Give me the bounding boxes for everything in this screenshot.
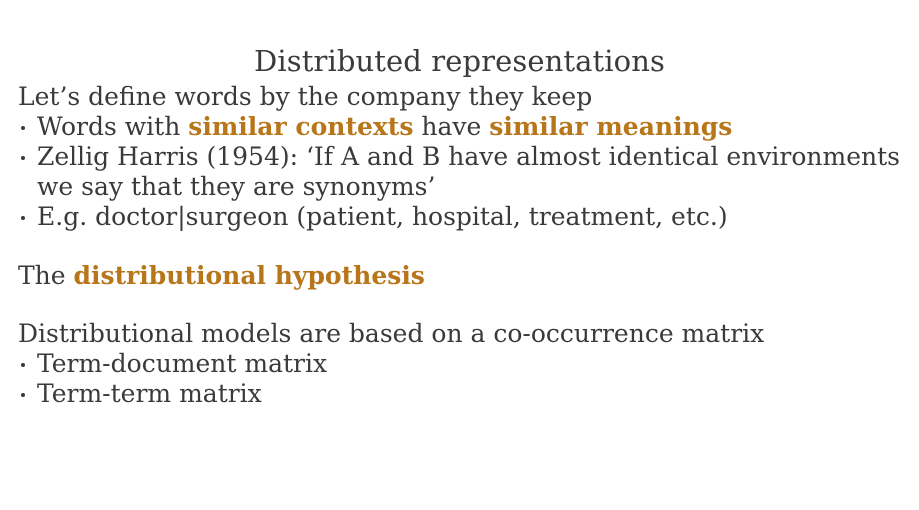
hypothesis-prefix: The: [18, 261, 74, 290]
bullet-segment-text: have: [413, 112, 489, 141]
bullet-segment-text: Words with: [37, 112, 188, 141]
slide-body: Let’s define words by the company they k…: [18, 82, 903, 409]
intro-bullet-list: Words with similar contexts have similar…: [18, 112, 903, 232]
intro-lead-text: Let’s define words by the company they k…: [18, 82, 903, 112]
bullet-text: Term-term matrix: [37, 379, 262, 408]
bullet-segment-highlight: similar contexts: [188, 112, 413, 141]
bullet-text: Term-document matrix: [37, 349, 327, 378]
slide-title: Distributed representations: [0, 45, 919, 78]
bullet-text: Zellig Harris (1954): ‘If A and B have a…: [37, 142, 908, 201]
list-item: Term-term matrix: [18, 379, 903, 409]
hypothesis-line: The distributional hypothesis: [18, 261, 903, 291]
spacer: [18, 232, 903, 261]
models-lead-text: Distributional models are based on a co-…: [18, 319, 903, 349]
models-bullet-list: Term-document matrix Term-term matrix: [18, 349, 903, 409]
spacer: [18, 291, 903, 319]
bullet-segment-highlight: similar meanings: [489, 112, 732, 141]
list-item: Words with similar contexts have similar…: [18, 112, 903, 142]
hypothesis-term: distributional hypothesis: [74, 261, 425, 290]
list-item: Zellig Harris (1954): ‘If A and B have a…: [18, 142, 903, 202]
bullet-text: E.g. doctor|surgeon (patient, hospital, …: [37, 202, 728, 231]
list-item: E.g. doctor|surgeon (patient, hospital, …: [18, 202, 903, 232]
presentation-slide: Distributed representations Let’s define…: [0, 0, 919, 510]
list-item: Term-document matrix: [18, 349, 903, 379]
